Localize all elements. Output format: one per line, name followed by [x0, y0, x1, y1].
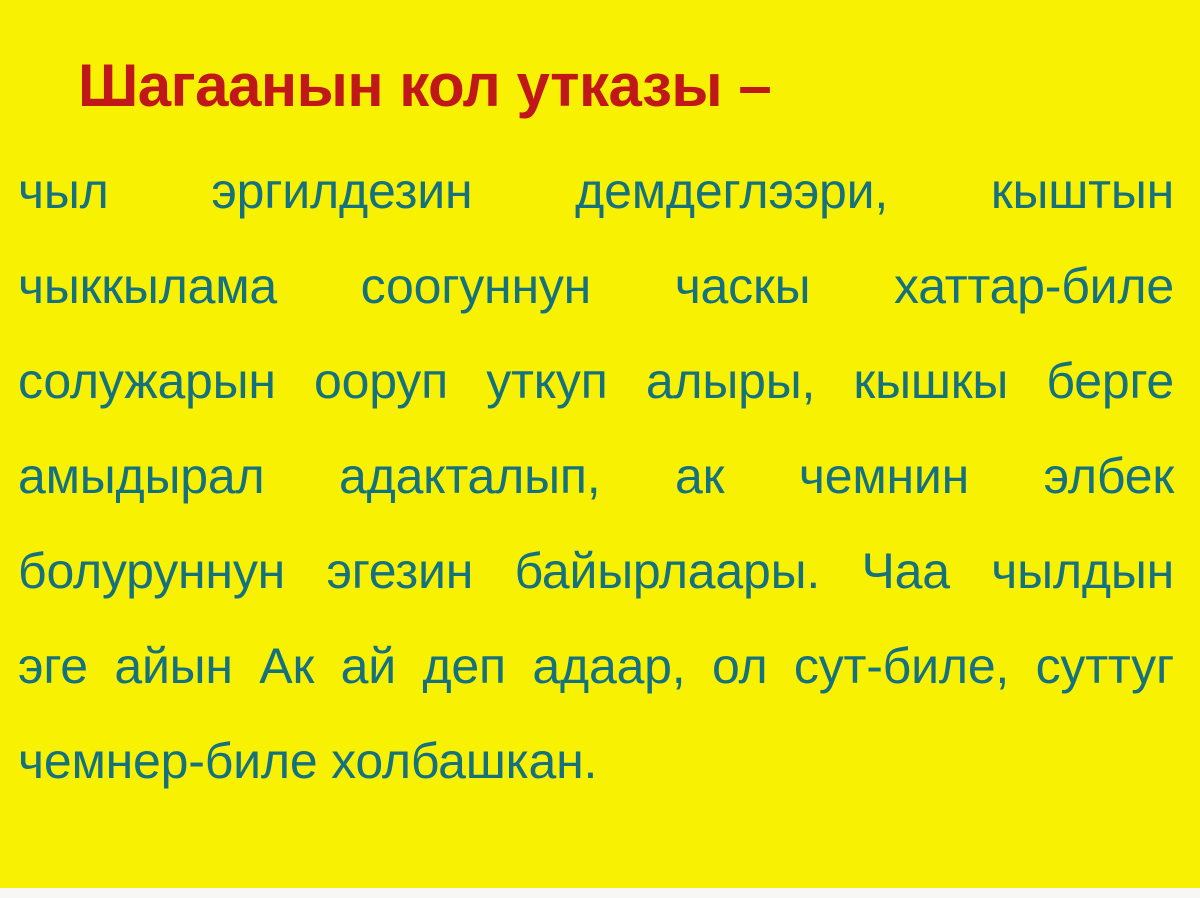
- body-line-3: солужарын ооруп уткуп алыры, кышкы берге: [18, 334, 1174, 429]
- body-line-6: эге айын Ак ай деп адаар, ол сут-биле, с…: [18, 619, 1174, 714]
- slide-body-text: чыл эргилдезин демдеглээри, кыштын чыккы…: [18, 116, 1184, 809]
- slide: Шагаанын кол утказы – чыл эргилдезин дем…: [0, 0, 1200, 898]
- slide-content: Шагаанын кол утказы – чыл эргилдезин дем…: [0, 0, 1200, 888]
- body-line-7: чемнер-биле холбашкан.: [18, 714, 1174, 809]
- body-line-5: болуруннун эгезин байырлаары. Чаа чылдын: [18, 524, 1174, 619]
- slide-title: Шагаанын кол утказы –: [18, 0, 1184, 116]
- body-line-4: амыдырал адакталып, ак чемнин элбек: [18, 429, 1174, 524]
- body-line-2: чыккылама соогуннун часкы хаттар-биле: [18, 239, 1174, 334]
- body-line-1: чыл эргилдезин демдеглээри, кыштын: [18, 144, 1174, 239]
